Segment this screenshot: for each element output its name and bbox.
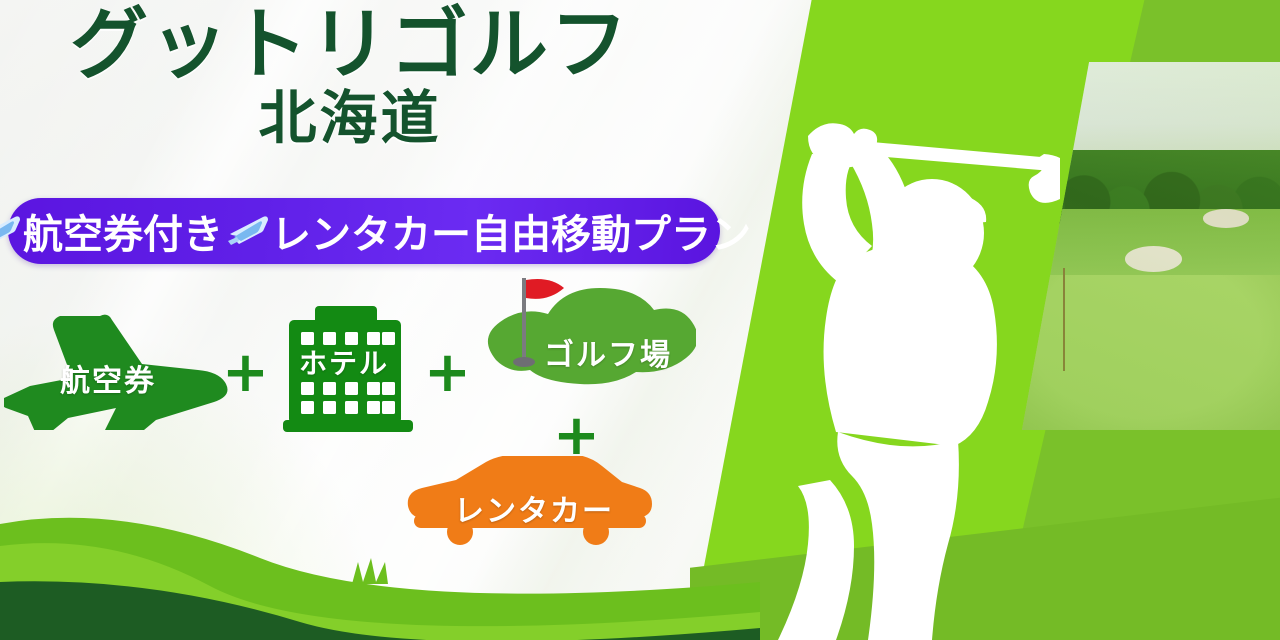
package-item-hotel: ホテル <box>283 300 413 432</box>
airplane-icon-right <box>225 211 269 251</box>
promo-banner: グットリゴルフ 北海道 航空券付き レンタカー自由移動プラン 航空券 + <box>0 0 1280 640</box>
separator-plus-1: + <box>222 345 269 401</box>
page-subtitle-region: 北海道 <box>0 88 700 149</box>
headline-block: グットリゴルフ 北海道 <box>0 6 700 148</box>
package-item-flight: 航空券 <box>4 312 232 430</box>
package-item-golf: ゴルフ場 <box>474 272 696 404</box>
package-label-flight: 航空券 <box>60 356 156 400</box>
page-title: グットリゴルフ <box>0 6 700 86</box>
promo-pill-text-right: レンタカー自由移動プラン <box>271 202 751 260</box>
package-label-hotel: ホテル <box>299 342 389 382</box>
bottom-hills-decoration <box>0 450 760 640</box>
separator-plus-2: + <box>424 345 471 401</box>
airplane-icon-left <box>0 211 21 251</box>
package-label-golf: ゴルフ場 <box>544 330 672 374</box>
promo-pill[interactable]: 航空券付き レンタカー自由移動プラン <box>8 198 720 264</box>
promo-pill-text-left: 航空券付き <box>23 202 223 260</box>
